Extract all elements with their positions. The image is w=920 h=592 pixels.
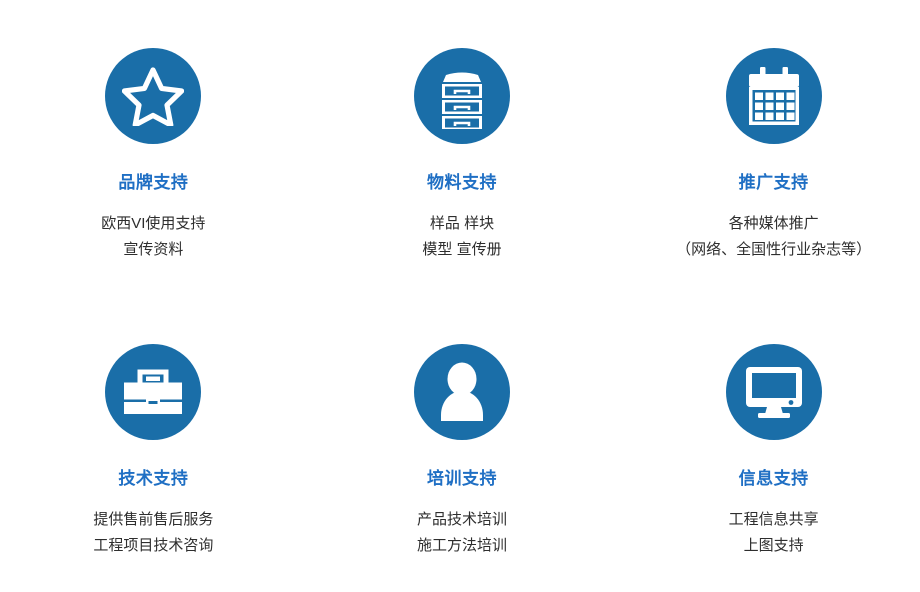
- card-title-brand: 品牌支持: [118, 173, 188, 193]
- icon-badge-brand: [105, 48, 201, 144]
- card-desc-line: 施工方法培训: [417, 533, 507, 559]
- card-desc-line: 样品 样块: [422, 211, 501, 237]
- filing-cabinet-icon: [436, 63, 488, 129]
- person-icon: [435, 361, 489, 423]
- card-title-technical: 技术支持: [118, 469, 188, 489]
- card-desc-line: 欧西VI使用支持: [101, 211, 205, 237]
- card-desc-line: 各种媒体推广: [676, 211, 871, 237]
- card-desc-line: 提供售前售后服务: [93, 507, 213, 533]
- card-desc-brand: 欧西VI使用支持 宣传资料: [101, 211, 205, 263]
- support-card-promotion: 推广支持 各种媒体推广 （网络、全国性行业杂志等）: [613, 0, 920, 296]
- star-icon: [122, 66, 184, 126]
- support-card-training: 培训支持 产品技术培训 施工方法培训: [307, 296, 614, 592]
- card-desc-line: 模型 宣传册: [422, 237, 501, 263]
- card-desc-information: 工程信息共享 上图支持: [729, 507, 819, 559]
- icon-badge-promotion: [726, 48, 822, 144]
- briefcase-icon: [121, 366, 185, 418]
- card-desc-technical: 提供售前售后服务 工程项目技术咨询: [93, 507, 213, 559]
- icon-badge-training: [414, 344, 510, 440]
- card-desc-line: （网络、全国性行业杂志等）: [676, 237, 871, 263]
- card-desc-promotion: 各种媒体推广 （网络、全国性行业杂志等）: [676, 211, 871, 263]
- card-desc-line: 工程项目技术咨询: [93, 533, 213, 559]
- card-title-promotion: 推广支持: [739, 173, 809, 193]
- icon-badge-information: [726, 344, 822, 440]
- card-title-material: 物料支持: [427, 173, 497, 193]
- card-desc-line: 工程信息共享: [729, 507, 819, 533]
- support-card-information: 信息支持 工程信息共享 上图支持: [613, 296, 920, 592]
- card-desc-line: 产品技术培训: [417, 507, 507, 533]
- support-features-grid: 品牌支持 欧西VI使用支持 宣传资料: [0, 0, 920, 592]
- support-card-technical: 技术支持 提供售前售后服务 工程项目技术咨询: [0, 296, 307, 592]
- card-desc-line: 上图支持: [729, 533, 819, 559]
- card-desc-line: 宣传资料: [101, 237, 205, 263]
- support-card-brand: 品牌支持 欧西VI使用支持 宣传资料: [0, 0, 307, 296]
- icon-badge-technical: [105, 344, 201, 440]
- card-title-training: 培训支持: [427, 469, 497, 489]
- card-title-information: 信息支持: [739, 469, 809, 489]
- calendar-icon: [745, 65, 803, 127]
- icon-badge-material: [414, 48, 510, 144]
- monitor-icon: [743, 365, 805, 419]
- card-desc-material: 样品 样块 模型 宣传册: [422, 211, 501, 263]
- support-card-material: 物料支持 样品 样块 模型 宣传册: [307, 0, 614, 296]
- card-desc-training: 产品技术培训 施工方法培训: [417, 507, 507, 559]
